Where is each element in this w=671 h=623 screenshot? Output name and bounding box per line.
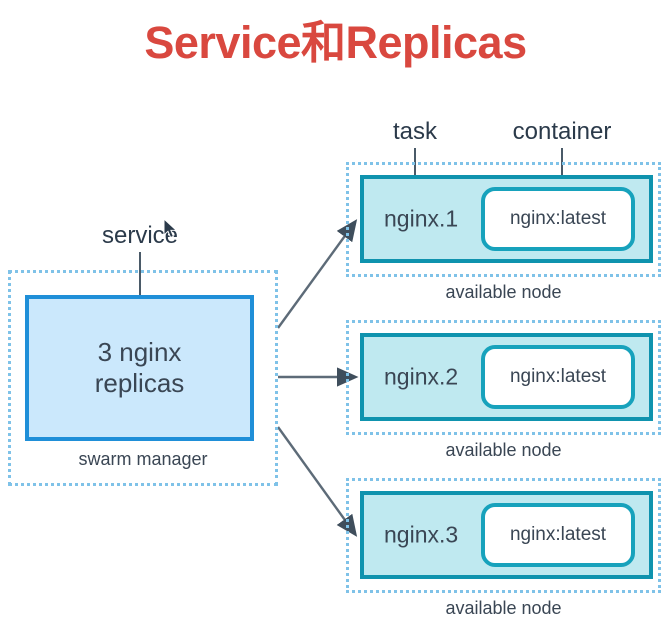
node-caption-1: available node bbox=[346, 282, 661, 303]
arrow-manager-to-node-1 bbox=[278, 222, 355, 328]
node-caption-2: available node bbox=[346, 440, 661, 461]
task-annotation-label: task bbox=[370, 118, 460, 146]
node-caption-3: available node bbox=[346, 598, 661, 619]
task-label-2: nginx.2 bbox=[384, 364, 458, 391]
container-box-2[interactable]: nginx:latest bbox=[481, 345, 635, 409]
service-box[interactable]: 3 nginx replicas bbox=[25, 295, 254, 441]
container-label-2: nginx:latest bbox=[510, 366, 606, 388]
swarm-manager-caption: swarm manager bbox=[8, 449, 278, 470]
task-box-1[interactable]: nginx.1 nginx:latest bbox=[360, 175, 653, 263]
mouse-cursor-icon bbox=[163, 218, 179, 240]
container-label-3: nginx:latest bbox=[510, 524, 606, 546]
container-box-3[interactable]: nginx:latest bbox=[481, 503, 635, 567]
diagram-canvas: Service和Replicas service 3 nginx replica… bbox=[0, 0, 671, 623]
task-label-3: nginx.3 bbox=[384, 522, 458, 549]
service-box-label: 3 nginx replicas bbox=[95, 337, 185, 398]
arrow-manager-to-node-3 bbox=[278, 427, 355, 534]
page-title: Service和Replicas bbox=[0, 6, 671, 71]
task-label-1: nginx.1 bbox=[384, 206, 458, 233]
container-annotation-label: container bbox=[492, 118, 632, 146]
container-label-1: nginx:latest bbox=[510, 208, 606, 230]
task-box-2[interactable]: nginx.2 nginx:latest bbox=[360, 333, 653, 421]
container-box-1[interactable]: nginx:latest bbox=[481, 187, 635, 251]
task-box-3[interactable]: nginx.3 nginx:latest bbox=[360, 491, 653, 579]
